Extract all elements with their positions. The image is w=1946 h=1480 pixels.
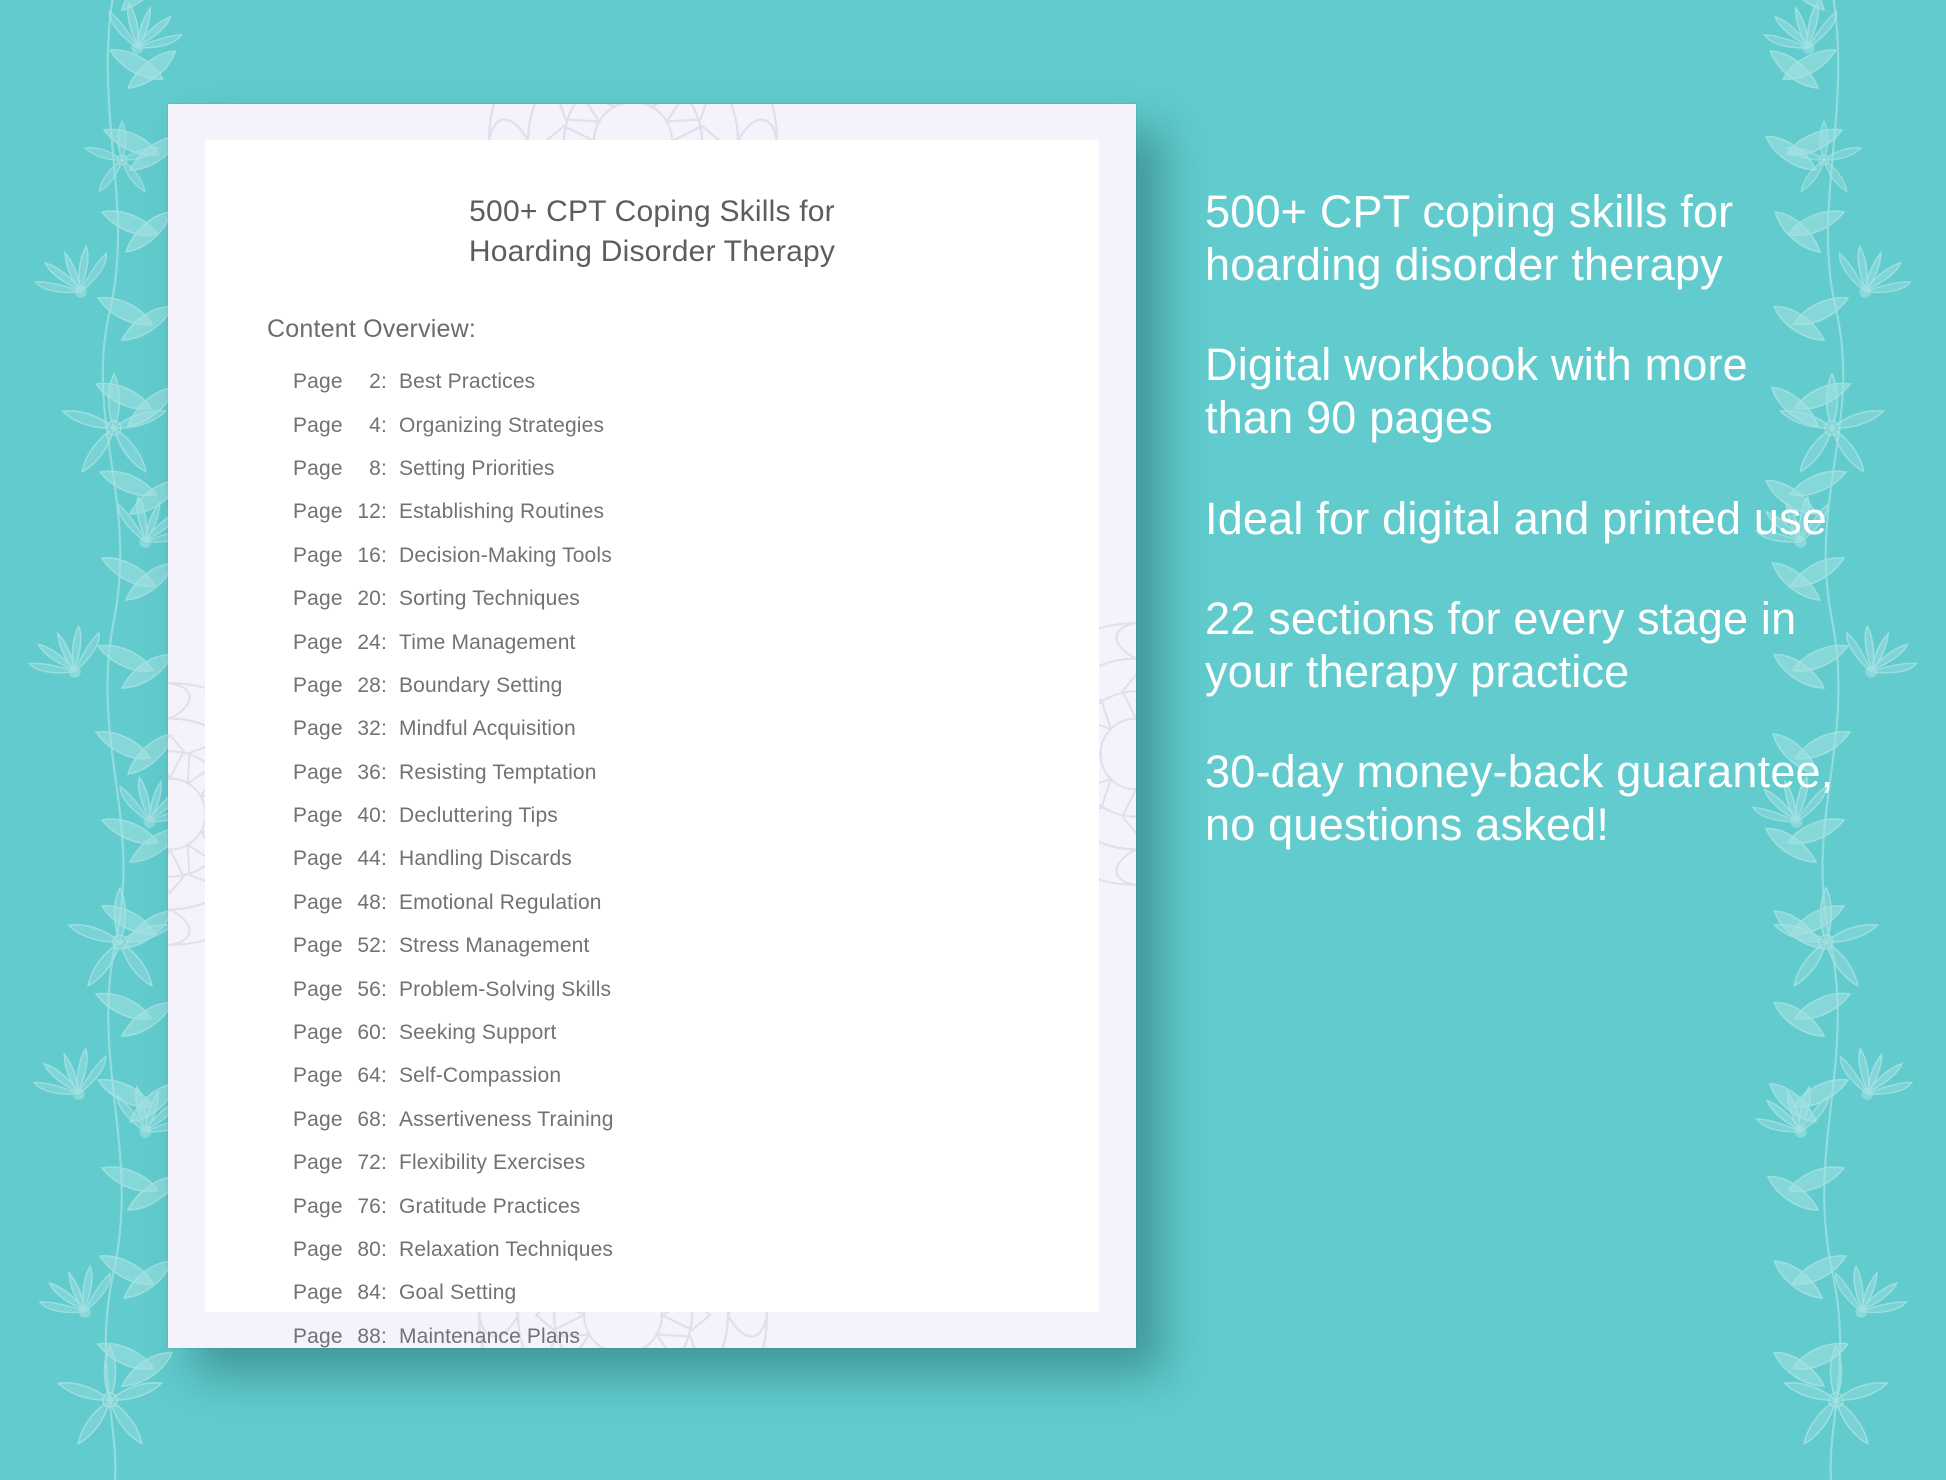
toc-page-number: 4 [347, 414, 381, 438]
table-of-contents-row: Page80:Relaxation Techniques [205, 1238, 1099, 1281]
table-of-contents-row: Page56:Problem-Solving Skills [205, 978, 1099, 1021]
content-overview-label: Content Overview: [205, 271, 1099, 344]
toc-colon: : [381, 500, 399, 524]
toc-section-title: Best Practices [399, 370, 535, 394]
toc-colon: : [381, 1064, 399, 1088]
toc-colon: : [381, 674, 399, 698]
toc-colon: : [381, 934, 399, 958]
toc-colon: : [381, 631, 399, 655]
toc-section-title: Decision-Making Tools [399, 544, 612, 568]
toc-colon: : [381, 717, 399, 741]
toc-page-number: 64 [347, 1064, 381, 1088]
marketing-bullet: Ideal for digital and printed use [1205, 493, 1845, 546]
table-of-contents-row: Page28:Boundary Setting [205, 674, 1099, 717]
toc-section-title: Assertiveness Training [399, 1108, 614, 1132]
toc-section-title: Decluttering Tips [399, 804, 558, 828]
toc-page-word: Page [293, 934, 347, 958]
table-of-contents-row: Page44:Handling Discards [205, 847, 1099, 890]
toc-section-title: Maintenance Plans [399, 1325, 580, 1348]
marketing-bullet: Digital workbook with more than 90 pages [1205, 339, 1845, 444]
toc-section-title: Handling Discards [399, 847, 572, 871]
table-of-contents-row: Page24:Time Management [205, 631, 1099, 674]
table-of-contents-row: Page60:Seeking Support [205, 1021, 1099, 1064]
table-of-contents-row: Page20:Sorting Techniques [205, 587, 1099, 630]
toc-colon: : [381, 891, 399, 915]
toc-page-word: Page [293, 414, 347, 438]
toc-page-number: 2 [347, 370, 381, 394]
table-of-contents-row: Page32:Mindful Acquisition [205, 717, 1099, 760]
toc-colon: : [381, 804, 399, 828]
toc-section-title: Relaxation Techniques [399, 1238, 613, 1262]
toc-section-title: Time Management [399, 631, 576, 655]
table-of-contents-row: Page12:Establishing Routines [205, 500, 1099, 543]
toc-section-title: Boundary Setting [399, 674, 563, 698]
toc-colon: : [381, 1195, 399, 1219]
toc-page-number: 8 [347, 457, 381, 481]
toc-colon: : [381, 978, 399, 1002]
table-of-contents-row: Page8:Setting Priorities [205, 457, 1099, 500]
toc-section-title: Stress Management [399, 934, 589, 958]
table-of-contents-row: Page84:Goal Setting [205, 1281, 1099, 1324]
toc-page-number: 56 [347, 978, 381, 1002]
toc-page-word: Page [293, 457, 347, 481]
toc-page-word: Page [293, 978, 347, 1002]
toc-page-word: Page [293, 717, 347, 741]
toc-colon: : [381, 544, 399, 568]
toc-page-word: Page [293, 1108, 347, 1132]
toc-page-number: 68 [347, 1108, 381, 1132]
toc-section-title: Seeking Support [399, 1021, 557, 1045]
toc-section-title: Resisting Temptation [399, 761, 597, 785]
toc-page-word: Page [293, 544, 347, 568]
toc-page-word: Page [293, 804, 347, 828]
page-title: 500+ CPT Coping Skills for Hoarding Diso… [205, 140, 1099, 271]
toc-page-number: 80 [347, 1238, 381, 1262]
toc-section-title: Goal Setting [399, 1281, 516, 1305]
toc-page-number: 72 [347, 1151, 381, 1175]
table-of-contents-row: Page16:Decision-Making Tools [205, 544, 1099, 587]
table-of-contents-row: Page48:Emotional Regulation [205, 891, 1099, 934]
toc-colon: : [381, 1281, 399, 1305]
toc-page-word: Page [293, 1325, 347, 1348]
toc-page-number: 20 [347, 587, 381, 611]
toc-page-word: Page [293, 1281, 347, 1305]
toc-page-word: Page [293, 631, 347, 655]
marketing-bullet-list: 500+ CPT coping skills for hoarding diso… [1205, 186, 1845, 852]
table-of-contents-row: Page68:Assertiveness Training [205, 1108, 1099, 1151]
toc-section-title: Emotional Regulation [399, 891, 602, 915]
toc-colon: : [381, 1108, 399, 1132]
toc-colon: : [381, 414, 399, 438]
toc-colon: : [381, 587, 399, 611]
toc-section-title: Flexibility Exercises [399, 1151, 585, 1175]
marketing-bullet: 22 sections for every stage in your ther… [1205, 593, 1845, 698]
toc-page-word: Page [293, 1195, 347, 1219]
toc-page-word: Page [293, 1238, 347, 1262]
toc-colon: : [381, 847, 399, 871]
toc-page-word: Page [293, 1064, 347, 1088]
toc-page-word: Page [293, 891, 347, 915]
toc-section-title: Gratitude Practices [399, 1195, 580, 1219]
toc-colon: : [381, 761, 399, 785]
toc-colon: : [381, 1238, 399, 1262]
toc-colon: : [381, 1021, 399, 1045]
toc-page-word: Page [293, 500, 347, 524]
table-of-contents-list: Page2:Best PracticesPage4:Organizing Str… [205, 344, 1099, 1348]
marketing-bullet: 500+ CPT coping skills for hoarding diso… [1205, 186, 1845, 291]
toc-page-number: 60 [347, 1021, 381, 1045]
toc-page-number: 84 [347, 1281, 381, 1305]
toc-page-word: Page [293, 847, 347, 871]
toc-page-number: 52 [347, 934, 381, 958]
toc-section-title: Self-Compassion [399, 1064, 561, 1088]
toc-page-word: Page [293, 674, 347, 698]
toc-section-title: Problem-Solving Skills [399, 978, 611, 1002]
toc-page-word: Page [293, 761, 347, 785]
toc-page-number: 88 [347, 1325, 381, 1348]
table-of-contents-row: Page40:Decluttering Tips [205, 804, 1099, 847]
toc-page-word: Page [293, 1021, 347, 1045]
toc-page-word: Page [293, 1151, 347, 1175]
toc-section-title: Sorting Techniques [399, 587, 580, 611]
toc-page-number: 36 [347, 761, 381, 785]
toc-page-word: Page [293, 370, 347, 394]
toc-colon: : [381, 1151, 399, 1175]
table-of-contents-row: Page88:Maintenance Plans [205, 1325, 1099, 1348]
toc-page-number: 24 [347, 631, 381, 655]
table-of-contents-row: Page36:Resisting Temptation [205, 761, 1099, 804]
toc-section-title: Establishing Routines [399, 500, 604, 524]
table-of-contents-row: Page2:Best Practices [205, 370, 1099, 413]
table-of-contents-row: Page4:Organizing Strategies [205, 414, 1099, 457]
marketing-bullet: 30-day money-back guarantee, no question… [1205, 746, 1845, 851]
table-of-contents-row: Page52:Stress Management [205, 934, 1099, 977]
toc-page-number: 76 [347, 1195, 381, 1219]
toc-section-title: Organizing Strategies [399, 414, 604, 438]
table-of-contents-row: Page76:Gratitude Practices [205, 1195, 1099, 1238]
workbook-page-sheet: 500+ CPT Coping Skills for Hoarding Diso… [205, 140, 1099, 1312]
toc-page-number: 16 [347, 544, 381, 568]
toc-page-word: Page [293, 587, 347, 611]
toc-page-number: 44 [347, 847, 381, 871]
table-of-contents-row: Page64:Self-Compassion [205, 1064, 1099, 1107]
workbook-page-card: 500+ CPT Coping Skills for Hoarding Diso… [168, 104, 1136, 1348]
toc-colon: : [381, 370, 399, 394]
toc-page-number: 32 [347, 717, 381, 741]
toc-page-number: 48 [347, 891, 381, 915]
toc-section-title: Mindful Acquisition [399, 717, 576, 741]
table-of-contents-row: Page72:Flexibility Exercises [205, 1151, 1099, 1194]
toc-page-number: 12 [347, 500, 381, 524]
toc-page-number: 40 [347, 804, 381, 828]
toc-page-number: 28 [347, 674, 381, 698]
toc-colon: : [381, 457, 399, 481]
toc-colon: : [381, 1325, 399, 1348]
toc-section-title: Setting Priorities [399, 457, 555, 481]
